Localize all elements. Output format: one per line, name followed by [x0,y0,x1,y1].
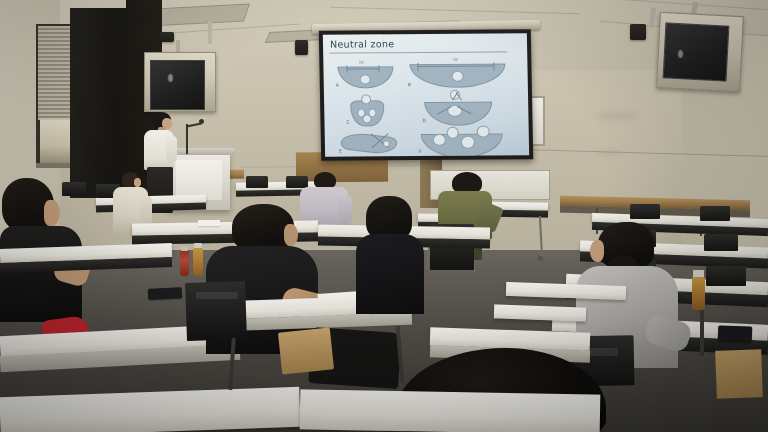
student-face [44,200,60,226]
slide-panel-a: NZ A [335,60,394,90]
window-blinds[interactable] [38,26,74,120]
student-face [590,240,604,262]
desk-caster [538,256,543,261]
slide-dim-label: NZ [453,58,458,62]
lecture-hall-photo: Neutral zone NZ A NZ B [0,0,768,432]
smartphone[interactable] [718,325,753,342]
student-right-black [356,196,428,326]
monitor-screen [663,22,730,81]
chair [630,204,660,219]
monitor-screen [150,60,205,110]
paper-bag [715,349,763,399]
slide-panel-label: F [419,150,422,155]
chair [246,176,268,188]
projection-screen: Neutral zone NZ A NZ B [319,29,534,160]
smartphone[interactable] [148,287,183,300]
slide-panel-d: D [420,88,495,129]
wall-mark [594,150,622,155]
monitor-glare [168,74,173,82]
slide-panel-label: E [339,150,342,155]
slide-panel-label: B [408,83,411,88]
slide-panel-b: NZ B [407,57,506,90]
slide-title: Neutral zone [330,39,395,50]
chair [700,206,730,221]
chair [704,234,738,251]
slide-dim-label: NZ [359,60,364,64]
desk-leg [700,310,704,356]
student-face [134,178,141,187]
slide-title-underline [329,51,507,53]
student-face [284,224,298,246]
chair [185,281,247,341]
slide-panel-c: C [346,92,387,128]
ceiling-pipe [208,22,212,44]
presenter-arm [166,136,177,162]
drink-bottle [180,250,189,276]
microphone-head [199,119,204,124]
wall-speaker [295,40,308,55]
slide-panel-label: A [336,84,339,89]
student-arm [140,196,152,224]
drink-bottle [692,276,705,310]
projected-slide: Neutral zone NZ A NZ B [323,33,529,156]
chair [706,266,746,286]
bottle-cap [181,246,188,251]
student-shirt [356,234,424,314]
wall-speaker [160,32,174,42]
monitor-glare [678,50,683,58]
window-daylight [40,118,70,166]
bottle-cap [693,270,704,277]
wall-speaker [630,24,646,40]
slide-panel-e: E [339,128,402,156]
student-arm [338,196,352,224]
chair-slot [196,292,238,299]
slide-panel-label: C [346,121,349,126]
paper-bag [278,327,334,374]
desk [300,389,601,432]
microphone-stand [186,124,188,154]
slide-panel-f: F [417,123,506,156]
wall-mark [596,112,638,120]
